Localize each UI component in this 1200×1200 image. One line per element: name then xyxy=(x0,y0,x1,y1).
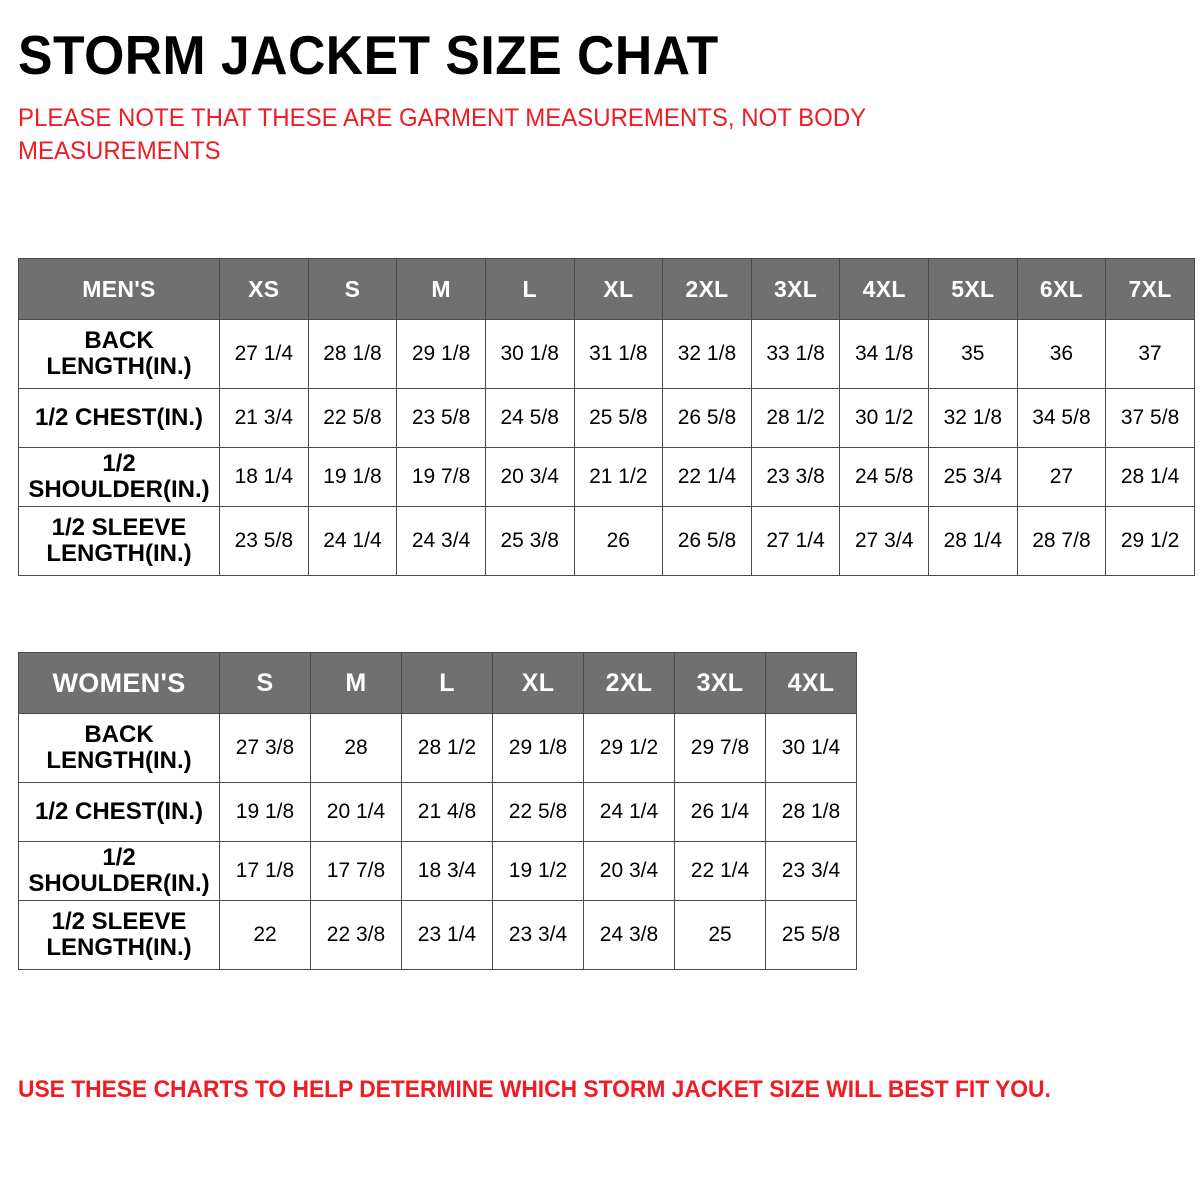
measurement-cell: 25 xyxy=(675,901,766,970)
measurement-cell: 26 5/8 xyxy=(663,507,752,576)
measurement-cell: 28 1/2 xyxy=(751,389,840,448)
measurement-cell: 20 3/4 xyxy=(485,448,574,507)
measurement-cell: 24 3/4 xyxy=(397,507,486,576)
measurement-cell: 35 xyxy=(929,320,1018,389)
measurement-cell: 23 5/8 xyxy=(220,507,309,576)
measurement-cell: 22 1/4 xyxy=(663,448,752,507)
measurement-cell: 26 5/8 xyxy=(663,389,752,448)
measurement-cell: 22 1/4 xyxy=(675,842,766,901)
measurement-cell: 23 5/8 xyxy=(397,389,486,448)
row-label-line: 1/2 SHOULDER(IN.) xyxy=(23,451,215,504)
measurement-cell: 27 1/4 xyxy=(751,507,840,576)
measurement-cell: 28 xyxy=(311,714,402,783)
measurement-cell: 26 xyxy=(574,507,663,576)
size-column-header: S xyxy=(308,259,397,320)
mens-header-row: MEN'SXSSMLXL2XL3XL4XL5XL6XL7XL xyxy=(19,259,1195,320)
measurement-cell: 24 5/8 xyxy=(485,389,574,448)
measurement-row-label: 1/2 SLEEVELENGTH(IN.) xyxy=(19,507,220,576)
size-column-header: 4XL xyxy=(766,653,857,714)
size-column-header: XL xyxy=(493,653,584,714)
measurement-cell: 30 1/2 xyxy=(840,389,929,448)
measurement-cell: 19 1/8 xyxy=(308,448,397,507)
measurement-cell: 28 7/8 xyxy=(1017,507,1106,576)
measurement-cell: 25 3/8 xyxy=(485,507,574,576)
size-column-header: M xyxy=(311,653,402,714)
measurement-cell: 17 7/8 xyxy=(311,842,402,901)
table-row: 1/2 SLEEVELENGTH(IN.)2222 3/823 1/423 3/… xyxy=(19,901,857,970)
measurement-cell: 27 1/4 xyxy=(220,320,309,389)
row-label-line: 1/2 SLEEVE xyxy=(23,909,215,935)
fit-guidance-note: USE THESE CHARTS TO HELP DETERMINE WHICH… xyxy=(18,1076,1051,1104)
measurement-cell: 18 3/4 xyxy=(402,842,493,901)
measurement-cell: 36 xyxy=(1017,320,1106,389)
measurement-cell: 37 xyxy=(1106,320,1195,389)
row-label-line: 1/2 SHOULDER(IN.) xyxy=(23,845,215,898)
table-row: 1/2 CHEST(IN.)21 3/422 5/823 5/824 5/825… xyxy=(19,389,1195,448)
measurement-cell: 23 1/4 xyxy=(402,901,493,970)
measurement-cell: 27 3/8 xyxy=(220,714,311,783)
page-title: STORM JACKET SIZE CHAT xyxy=(18,0,1112,84)
table-corner-header: MEN'S xyxy=(19,259,220,320)
size-column-header: S xyxy=(220,653,311,714)
womens-table-body: BACKLENGTH(IN.)27 3/82828 1/229 1/829 1/… xyxy=(19,714,857,970)
measurement-cell: 31 1/8 xyxy=(574,320,663,389)
size-column-header: 3XL xyxy=(675,653,766,714)
measurement-cell: 28 1/4 xyxy=(1106,448,1195,507)
measurement-cell: 29 1/2 xyxy=(584,714,675,783)
mens-table-body: BACKLENGTH(IN.)27 1/428 1/829 1/830 1/83… xyxy=(19,320,1195,576)
measurement-cell: 25 5/8 xyxy=(574,389,663,448)
measurement-cell: 33 1/8 xyxy=(751,320,840,389)
measurement-cell: 29 7/8 xyxy=(675,714,766,783)
measurement-cell: 27 xyxy=(1017,448,1106,507)
size-column-header: XL xyxy=(574,259,663,320)
measurement-cell: 20 3/4 xyxy=(584,842,675,901)
measurement-cell: 22 xyxy=(220,901,311,970)
measurement-cell: 22 5/8 xyxy=(493,783,584,842)
row-label-line: LENGTH(IN.) xyxy=(23,354,215,380)
measurement-row-label: 1/2 CHEST(IN.) xyxy=(19,389,220,448)
table-corner-header: WOMEN'S xyxy=(19,653,220,714)
measurement-cell: 18 1/4 xyxy=(220,448,309,507)
mens-table-header: MEN'SXSSMLXL2XL3XL4XL5XL6XL7XL xyxy=(19,259,1195,320)
measurement-row-label: 1/2 CHEST(IN.) xyxy=(19,783,220,842)
measurement-cell: 28 1/8 xyxy=(766,783,857,842)
size-column-header: 5XL xyxy=(929,259,1018,320)
row-label-line: 1/2 CHEST(IN.) xyxy=(23,799,215,825)
measurement-cell: 20 1/4 xyxy=(311,783,402,842)
measurement-cell: 29 1/8 xyxy=(493,714,584,783)
measurement-cell: 29 1/8 xyxy=(397,320,486,389)
measurement-cell: 23 3/4 xyxy=(766,842,857,901)
row-label-line: BACK xyxy=(23,722,215,748)
size-column-header: 2XL xyxy=(584,653,675,714)
womens-size-table: WOMEN'SSMLXL2XL3XL4XL BACKLENGTH(IN.)27 … xyxy=(18,652,857,970)
measurement-row-label: 1/2 SLEEVELENGTH(IN.) xyxy=(19,901,220,970)
measurement-cell: 23 3/4 xyxy=(493,901,584,970)
size-column-header: XS xyxy=(220,259,309,320)
measurement-cell: 30 1/8 xyxy=(485,320,574,389)
measurement-cell: 24 1/4 xyxy=(308,507,397,576)
size-column-header: M xyxy=(397,259,486,320)
garment-measurement-note: PLEASE NOTE THAT THESE ARE GARMENT MEASU… xyxy=(18,84,940,168)
measurement-cell: 32 1/8 xyxy=(929,389,1018,448)
row-label-line: 1/2 SLEEVE xyxy=(23,515,215,541)
size-column-header: 2XL xyxy=(663,259,752,320)
table-row: BACKLENGTH(IN.)27 3/82828 1/229 1/829 1/… xyxy=(19,714,857,783)
table-row: 1/2 CHEST(IN.)19 1/820 1/421 4/822 5/824… xyxy=(19,783,857,842)
size-column-header: 3XL xyxy=(751,259,840,320)
womens-table-header: WOMEN'SSMLXL2XL3XL4XL xyxy=(19,653,857,714)
measurement-cell: 21 1/2 xyxy=(574,448,663,507)
row-label-line: 1/2 CHEST(IN.) xyxy=(23,405,215,431)
measurement-cell: 21 3/4 xyxy=(220,389,309,448)
measurement-row-label: 1/2 SHOULDER(IN.) xyxy=(19,448,220,507)
size-chart-page: STORM JACKET SIZE CHAT PLEASE NOTE THAT … xyxy=(0,0,1200,1200)
row-label-line: LENGTH(IN.) xyxy=(23,541,215,567)
measurement-cell: 19 1/8 xyxy=(220,783,311,842)
measurement-cell: 24 1/4 xyxy=(584,783,675,842)
measurement-cell: 29 1/2 xyxy=(1106,507,1195,576)
size-column-header: 7XL xyxy=(1106,259,1195,320)
measurement-cell: 25 5/8 xyxy=(766,901,857,970)
row-label-line: LENGTH(IN.) xyxy=(23,748,215,774)
measurement-cell: 19 1/2 xyxy=(493,842,584,901)
measurement-cell: 17 1/8 xyxy=(220,842,311,901)
womens-header-row: WOMEN'SSMLXL2XL3XL4XL xyxy=(19,653,857,714)
measurement-row-label: BACKLENGTH(IN.) xyxy=(19,714,220,783)
measurement-cell: 21 4/8 xyxy=(402,783,493,842)
measurement-cell: 22 3/8 xyxy=(311,901,402,970)
row-label-line: BACK xyxy=(23,328,215,354)
measurement-cell: 25 3/4 xyxy=(929,448,1018,507)
table-row: BACKLENGTH(IN.)27 1/428 1/829 1/830 1/83… xyxy=(19,320,1195,389)
measurement-cell: 28 1/2 xyxy=(402,714,493,783)
measurement-cell: 30 1/4 xyxy=(766,714,857,783)
measurement-cell: 19 7/8 xyxy=(397,448,486,507)
row-label-line: LENGTH(IN.) xyxy=(23,935,215,961)
measurement-cell: 24 5/8 xyxy=(840,448,929,507)
size-column-header: 6XL xyxy=(1017,259,1106,320)
table-row: 1/2 SHOULDER(IN.)17 1/817 7/818 3/419 1/… xyxy=(19,842,857,901)
measurement-cell: 26 1/4 xyxy=(675,783,766,842)
measurement-cell: 34 5/8 xyxy=(1017,389,1106,448)
measurement-cell: 37 5/8 xyxy=(1106,389,1195,448)
measurement-cell: 24 3/8 xyxy=(584,901,675,970)
measurement-row-label: BACKLENGTH(IN.) xyxy=(19,320,220,389)
table-row: 1/2 SLEEVELENGTH(IN.)23 5/824 1/424 3/42… xyxy=(19,507,1195,576)
measurement-row-label: 1/2 SHOULDER(IN.) xyxy=(19,842,220,901)
measurement-cell: 27 3/4 xyxy=(840,507,929,576)
measurement-cell: 32 1/8 xyxy=(663,320,752,389)
table-row: 1/2 SHOULDER(IN.)18 1/419 1/819 7/820 3/… xyxy=(19,448,1195,507)
size-column-header: L xyxy=(485,259,574,320)
measurement-cell: 28 1/8 xyxy=(308,320,397,389)
size-column-header: 4XL xyxy=(840,259,929,320)
size-column-header: L xyxy=(402,653,493,714)
measurement-cell: 23 3/8 xyxy=(751,448,840,507)
measurement-cell: 34 1/8 xyxy=(840,320,929,389)
mens-size-table: MEN'SXSSMLXL2XL3XL4XL5XL6XL7XL BACKLENGT… xyxy=(18,258,1195,576)
measurement-cell: 22 5/8 xyxy=(308,389,397,448)
measurement-cell: 28 1/4 xyxy=(929,507,1018,576)
